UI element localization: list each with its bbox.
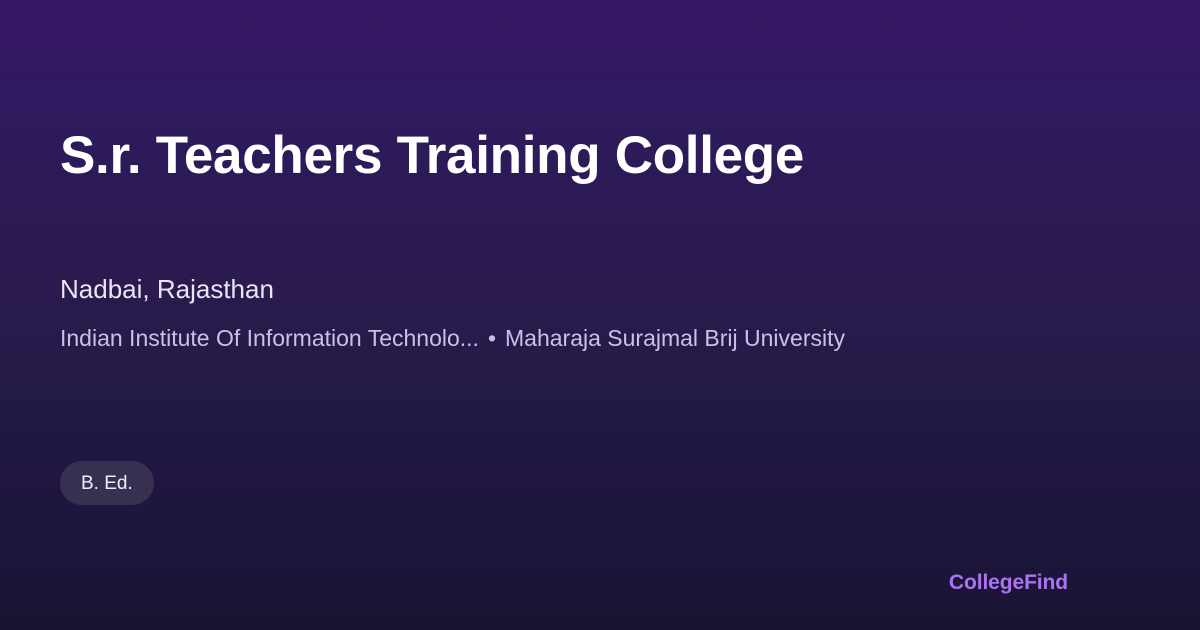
affiliation-row: Indian Institute Of Information Technolo… [60, 323, 1150, 353]
bullet-separator-icon: • [488, 323, 496, 353]
university-text: Maharaja Surajmal Brij University [505, 323, 845, 353]
location-text: Nadbai, Rajasthan [60, 272, 1150, 306]
degree-badge: B. Ed. [60, 461, 154, 505]
degree-pill-row: B. Ed. [60, 461, 154, 505]
college-share-card: S.r. Teachers Training College Nadbai, R… [0, 0, 1200, 630]
page-title: S.r. Teachers Training College [60, 125, 1140, 187]
title-block: S.r. Teachers Training College [60, 125, 1140, 187]
brand-logo: CollegeFind [949, 570, 1068, 596]
accreditation-text: Indian Institute Of Information Technolo… [60, 323, 479, 353]
meta-block: Nadbai, Rajasthan Indian Institute Of In… [60, 272, 1150, 353]
